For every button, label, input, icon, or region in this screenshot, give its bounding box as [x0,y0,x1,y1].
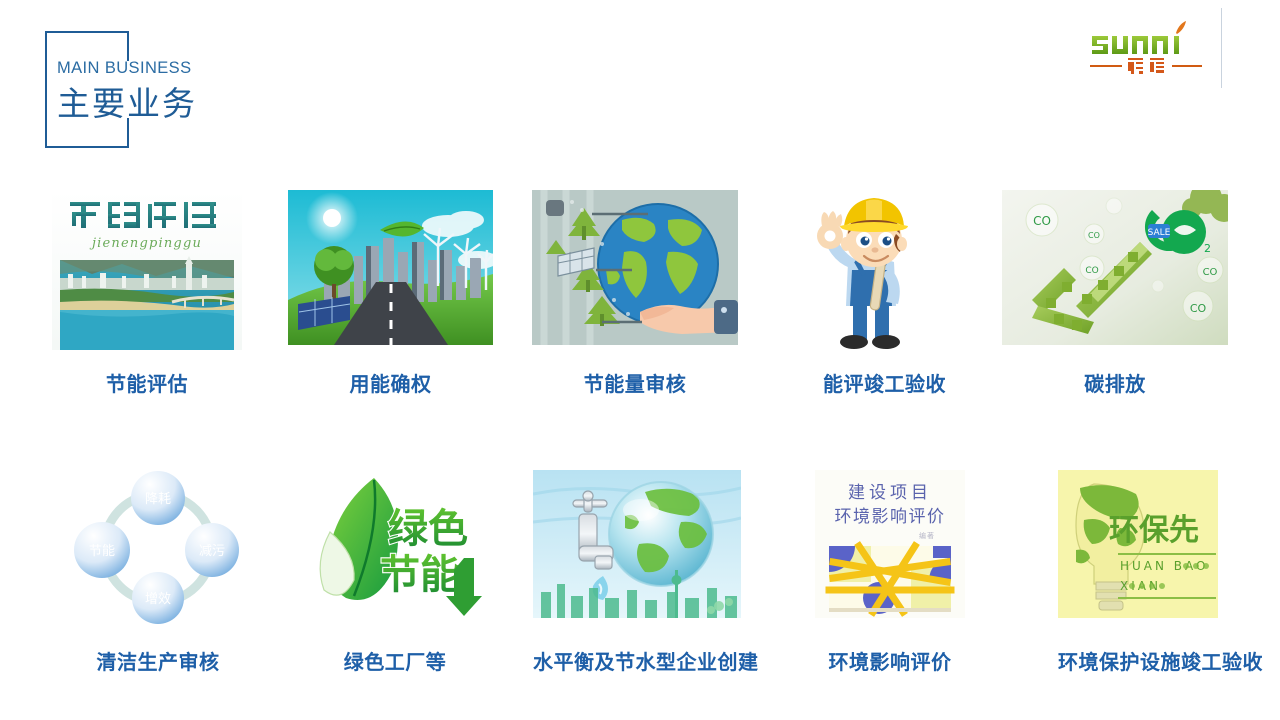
logo-icon [1086,20,1206,76]
svg-text:节能: 节能 [380,552,460,598]
thumb-hand-earth [532,190,738,345]
business-card-6[interactable]: 降耗 减污 增效 节能 清洁生产审核 [62,470,254,625]
svg-text:CO: CO [1085,266,1098,276]
page-title: 主要业务 [57,86,197,122]
business-card-label: 用能确权 [288,368,493,397]
business-card-4[interactable]: 能评竣工验收 [782,190,987,355]
thumb-engineer-mascot [782,190,987,355]
svg-text:建设项目: 建设项目 [848,483,932,503]
thumb-green-leaf-logo: 绿色 节能 [296,470,494,625]
svg-text:CO: CO [1088,231,1100,240]
slide-root: MAIN BUSINESS 主要业务 [0,0,1280,720]
svg-text:绿色: 绿色 [388,506,468,552]
business-card-2[interactable]: 用能确权 [288,190,493,345]
business-card-label: 节能评估 [52,368,242,397]
business-card-1[interactable]: jienengpinggu [52,190,242,350]
business-card-label: 碳排放 [1002,368,1228,397]
business-card-10[interactable]: 环保先 HUAN BAO XIAN 环境保护设施竣工验收 [1058,470,1218,618]
thumb-eia-book: 建设项目 环境影响评价 编著 [815,470,965,618]
company-logo [1086,20,1206,76]
svg-text:节能: 节能 [89,544,115,559]
svg-text:增效: 增效 [145,592,171,607]
svg-text:jienengpinggu: jienengpinggu [89,236,202,251]
svg-text:环保先: 环保先 [1109,513,1199,548]
frame-line-bottom [45,146,129,148]
business-card-label: 绿色工厂等 [296,646,494,675]
svg-text:减污: 减污 [199,544,225,559]
page-title-english: MAIN BUSINESS [57,60,197,77]
business-card-label: 水平衡及节水型企业创建 [533,646,741,675]
thumb-cleaner-production-cycle: 降耗 减污 增效 节能 [62,470,254,625]
svg-text:CO: CO [1203,267,1218,278]
page-title-group: MAIN BUSINESS 主要业务 [57,60,197,121]
business-card-label: 环境保护设施竣工验收 [1058,646,1218,675]
business-card-label: 环境影响评价 [815,646,965,675]
thumb-carbon-emission: 2 SALE CO CO CO CO [1002,190,1228,345]
thumb-water-balance [533,470,741,618]
frame-line-right-lower [127,118,129,148]
svg-text:2: 2 [1204,242,1211,255]
thumb-environmental-protection-poster: 环保先 HUAN BAO XIAN [1058,470,1218,618]
business-card-8[interactable]: 水平衡及节水型企业创建 [533,470,741,618]
frame-line-left [45,31,47,148]
svg-text:环境影响评价: 环境影响评价 [835,507,946,527]
business-card-label: 节能量审核 [532,368,738,397]
thumb-energy-saving-assessment: jienengpinggu [52,190,242,350]
svg-text:降耗: 降耗 [145,492,171,507]
svg-text:CO: CO [1033,214,1051,228]
logo-divider [1221,8,1222,88]
frame-line-top [45,31,129,33]
svg-text:CO: CO [1190,302,1207,315]
frame-line-right-upper [127,31,129,61]
business-card-9[interactable]: 建设项目 环境影响评价 编著 [815,470,965,618]
business-card-label: 能评竣工验收 [782,368,987,397]
business-card-7[interactable]: 绿色 节能 绿色工厂等 [296,470,494,625]
business-card-3[interactable]: 节能量审核 [532,190,738,345]
svg-text:编著: 编著 [919,531,935,540]
business-card-label: 清洁生产审核 [62,646,254,675]
business-card-5[interactable]: 2 SALE CO CO CO CO [1002,190,1228,345]
svg-text:SALE: SALE [1148,228,1171,238]
thumb-green-city [288,190,493,345]
